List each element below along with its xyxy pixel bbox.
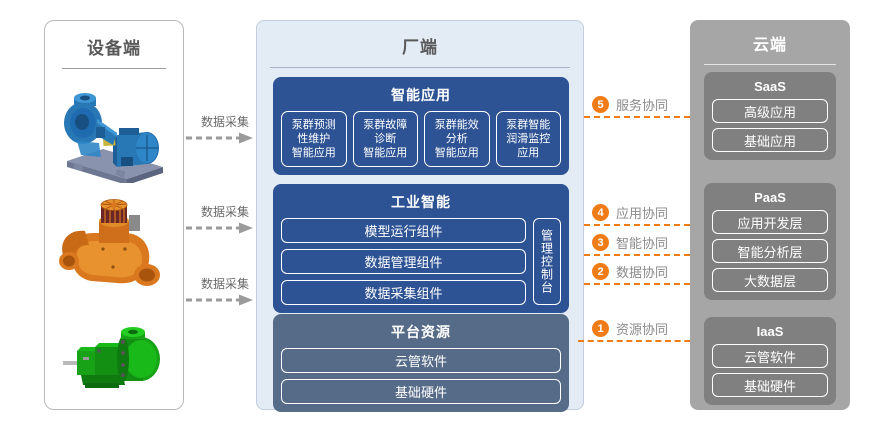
- device-panel-title: 设备端: [45, 34, 183, 59]
- green-pump-icon: [55, 309, 175, 404]
- data-collection-arrow-1: 数据采集: [185, 113, 265, 144]
- platform-resource-item[interactable]: 基础硬件: [281, 379, 561, 404]
- factory-panel: 厂端 智能应用 泵群预测性维护智能应用 泵群故障诊断智能应用 泵群能效分析智能应…: [256, 20, 584, 410]
- collaboration-label: 数据协同: [616, 262, 668, 281]
- industrial-intelligence-body: 模型运行组件 数据管理组件 数据采集组件 管理控制台: [281, 218, 561, 305]
- collaboration-connector-2: 2 数据协同: [592, 262, 700, 292]
- blue-pump-icon: [55, 83, 175, 183]
- management-console[interactable]: 管理控制台: [533, 218, 561, 305]
- architecture-diagram: 设备端: [0, 0, 880, 426]
- cloud-panel: 云端 SaaS 高级应用 基础应用 PaaS 应用开发层 智能分析层 大数据层 …: [690, 20, 850, 410]
- collaboration-badge: 4: [592, 204, 609, 221]
- collaboration-badge: 3: [592, 234, 609, 251]
- platform-resources-title: 平台资源: [281, 322, 561, 342]
- collaboration-connector-1: 1 资源协同: [592, 319, 700, 349]
- intelligent-application-block: 智能应用 泵群预测性维护智能应用 泵群故障诊断智能应用 泵群能效分析智能应用 泵…: [273, 77, 569, 175]
- industrial-intelligence-component-list: 模型运行组件 数据管理组件 数据采集组件: [281, 218, 526, 305]
- app-card[interactable]: 泵群预测性维护智能应用: [281, 111, 347, 167]
- intelligent-application-title: 智能应用: [281, 85, 561, 105]
- data-collection-label: 数据采集: [185, 275, 265, 292]
- factory-panel-title: 厂端: [257, 33, 583, 58]
- collaboration-label: 智能协同: [616, 233, 668, 252]
- factory-panel-divider: [270, 67, 570, 68]
- cloud-panel-title: 云端: [690, 31, 850, 55]
- collaboration-dashed-line: [584, 224, 700, 226]
- orange-pump-icon: [55, 193, 175, 303]
- cloud-layer-saas: SaaS 高级应用 基础应用: [704, 72, 836, 160]
- component-bar[interactable]: 数据管理组件: [281, 249, 526, 274]
- collaboration-head: 4 应用协同: [592, 203, 668, 222]
- app-card[interactable]: 泵群故障诊断智能应用: [353, 111, 419, 167]
- collaboration-label: 服务协同: [616, 95, 668, 114]
- collaboration-badge: 2: [592, 263, 609, 280]
- dashed-arrow-icon: [185, 294, 255, 306]
- pump-image-green: [45, 309, 185, 404]
- collaboration-badge: 5: [592, 96, 609, 113]
- cloud-layer-title: PaaS: [712, 190, 828, 205]
- cloud-layer-title: IaaS: [712, 324, 828, 339]
- intelligent-application-card-row: 泵群预测性维护智能应用 泵群故障诊断智能应用 泵群能效分析智能应用 泵群智能润滑…: [281, 111, 561, 167]
- cloud-layer-item[interactable]: 基础应用: [712, 128, 828, 152]
- data-collection-arrow-2: 数据采集: [185, 203, 265, 234]
- collaboration-label: 应用协同: [616, 203, 668, 222]
- collaboration-dashed-line: [584, 254, 700, 256]
- collaboration-dashed-line: [584, 283, 700, 285]
- dashed-arrow-icon: [185, 132, 255, 144]
- dashed-arrow-icon: [185, 222, 255, 234]
- component-bar[interactable]: 模型运行组件: [281, 218, 526, 243]
- data-collection-label: 数据采集: [185, 113, 265, 130]
- platform-resources-list: 云管软件 基础硬件: [281, 348, 561, 404]
- cloud-layer-item[interactable]: 大数据层: [712, 268, 828, 292]
- cloud-layer-item[interactable]: 高级应用: [712, 99, 828, 123]
- cloud-layer-item[interactable]: 应用开发层: [712, 210, 828, 234]
- pump-image-orange: [45, 193, 185, 303]
- cloud-layer-item[interactable]: 智能分析层: [712, 239, 828, 263]
- data-collection-arrow-3: 数据采集: [185, 275, 265, 306]
- collaboration-head: 2 数据协同: [592, 262, 668, 281]
- cloud-layer-iaas: IaaS 云管软件 基础硬件: [704, 317, 836, 405]
- cloud-layer-item[interactable]: 基础硬件: [712, 373, 828, 397]
- cloud-layer-title: SaaS: [712, 79, 828, 94]
- collaboration-dashed-line: [584, 116, 700, 118]
- platform-resources-block: 平台资源 云管软件 基础硬件: [273, 314, 569, 412]
- collaboration-badge: 1: [592, 320, 609, 337]
- device-panel-divider: [62, 68, 166, 69]
- collaboration-head: 1 资源协同: [592, 319, 668, 338]
- industrial-intelligence-title: 工业智能: [281, 192, 561, 212]
- collaboration-head: 5 服务协同: [592, 95, 668, 114]
- component-bar[interactable]: 数据采集组件: [281, 280, 526, 305]
- collaboration-label: 资源协同: [616, 319, 668, 338]
- app-card[interactable]: 泵群能效分析智能应用: [424, 111, 490, 167]
- collaboration-connector-4: 4 应用协同: [592, 203, 700, 233]
- cloud-layer-item[interactable]: 云管软件: [712, 344, 828, 368]
- collaboration-connector-3: 3 智能协同: [592, 233, 700, 263]
- device-panel: 设备端: [44, 20, 184, 410]
- cloud-layer-paas: PaaS 应用开发层 智能分析层 大数据层: [704, 183, 836, 300]
- data-collection-label: 数据采集: [185, 203, 265, 220]
- cloud-panel-divider: [704, 64, 836, 65]
- collaboration-connector-5: 5 服务协同: [592, 95, 700, 125]
- collaboration-head: 3 智能协同: [592, 233, 668, 252]
- app-card[interactable]: 泵群智能润滑监控应用: [496, 111, 562, 167]
- platform-resource-item[interactable]: 云管软件: [281, 348, 561, 373]
- industrial-intelligence-block: 工业智能 模型运行组件 数据管理组件 数据采集组件 管理控制台: [273, 184, 569, 313]
- collaboration-dashed-line: [578, 340, 700, 342]
- pump-image-blue: [45, 83, 185, 183]
